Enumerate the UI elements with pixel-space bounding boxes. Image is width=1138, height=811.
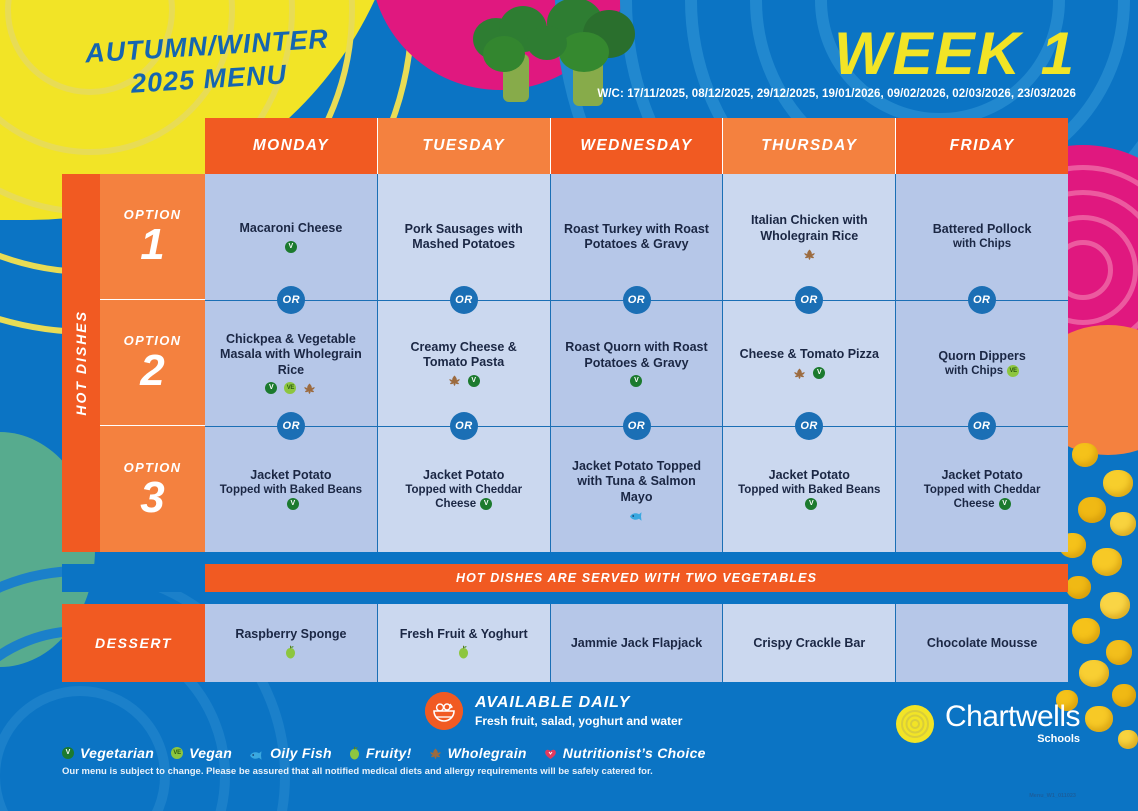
day-header-monday: MONDAY [205,118,377,174]
dish-cell-thursday-option-2: Cheese & Tomato PizzaV [722,300,895,426]
dish-cell-thursday-option-3: Jacket PotatoTopped with Baked BeansV [722,426,895,552]
vegetables-banner-row: HOT DISHES ARE SERVED WITH TWO VEGETABLE… [62,564,1068,592]
chartwells-logo: Chartwells Schools [896,702,1080,745]
available-daily-block: AVAILABLE DAILY Fresh fruit, salad, yogh… [425,692,682,730]
dish-cell-wednesday-option-2: Roast Quorn with Roast Potatoes & GravyV [550,300,723,426]
dish-cell-wednesday-option-1: Roast Turkey with Roast Potatoes & Gravy [550,174,723,300]
dietary-icons: V [285,241,297,253]
option-2-label: OPTION 2 [100,300,205,426]
dessert-name: Jammie Jack Flapjack [571,636,702,650]
legend-item-vegetarian: VVegetarian [62,745,154,761]
day-header-thursday: THURSDAY [722,118,895,174]
vegan-icon: VE [284,382,296,394]
dish-name: Jacket Potato [769,468,850,483]
hot-dishes-label-text: HOT DISHES [73,310,89,416]
vegetarian-icon: V [287,498,299,510]
or-badge: OR [623,412,651,440]
available-daily-title: AVAILABLE DAILY [475,694,682,712]
dish-name: Jacket Potato [423,468,504,483]
option-2-number: 2 [140,350,164,392]
option-1-label: OPTION 1 [100,174,205,300]
dish-row: Jacket PotatoTopped with Baked BeansVJac… [205,426,1068,552]
dish-name: Quorn Dippers [938,349,1026,364]
dietary-icons [458,645,469,659]
hot-dishes-section: HOT DISHES OPTION 1 OPTION 2 OPTION 3 Ma… [62,174,1068,552]
dish-row: Macaroni CheeseVPork Sausages with Mashe… [205,174,1068,300]
option-3-label: OPTION 3 [100,426,205,552]
dish-name: Jacket Potato [250,468,331,483]
chartwells-wordmark: Chartwells [945,702,1080,732]
salad-bowl-icon [425,692,463,730]
dish-name: Pork Sausages with Mashed Potatoes [388,222,540,253]
or-badge: OR [623,286,651,314]
week-commencing-dates: W/C: 17/11/2025, 08/12/2025, 29/12/2025,… [597,88,1076,100]
vegan-icon: VE [171,747,183,759]
dessert-cell-thursday: Crispy Crackle Bar [722,604,895,682]
week-label: WEEK 1 [834,24,1076,84]
dish-cell-wednesday-option-3: Jacket Potato Topped with Tuna & Salmon … [550,426,723,552]
disclaimer-text: Our menu is subject to change. Please be… [62,766,653,777]
dietary-legend: VVegetarianVEVeganOily FishFruity!Wholeg… [62,745,706,761]
dessert-name: Fresh Fruit & Yoghurt [400,627,528,641]
dietary-icons: VE [1007,365,1019,377]
dessert-cell-tuesday: Fresh Fruit & Yoghurt [377,604,550,682]
dish-name: Roast Quorn with Roast Potatoes & Gravy [561,340,713,371]
nutritionists-choice-icon [544,747,557,759]
vegetarian-icon: V [630,375,642,387]
legend-item-wholegrain: Wholegrain [429,745,527,761]
dish-cell-thursday-option-1: Italian Chicken with Wholegrain Rice [722,174,895,300]
dietary-icons: V [805,498,817,510]
legend-item-fruity: Fruity! [349,745,412,761]
or-badge: OR [795,412,823,440]
fruity-icon [349,746,360,760]
legend-item-vegan: VEVegan [171,745,232,761]
dish-cell-friday-option-2: Quorn Dipperswith ChipsVE [895,300,1068,426]
legend-label: Vegan [189,745,232,761]
dish-name: Cheese & Tomato Pizza [740,347,879,362]
dish-name: Italian Chicken with Wholegrain Rice [733,213,885,244]
dish-name: Creamy Cheese & Tomato Pasta [388,340,540,371]
or-badge: OR [450,286,478,314]
dish-subtitle: Topped with Cheddar CheeseV [906,483,1058,512]
or-badge: OR [277,412,305,440]
dish-cell-monday-option-1: Macaroni CheeseV [205,174,377,300]
legend-label: Oily Fish [270,745,332,761]
option-labels-column: OPTION 1 OPTION 2 OPTION 3 [100,174,205,552]
menu-grid: MONDAY TUESDAY WEDNESDAY THURSDAY FRIDAY… [62,118,1068,682]
dish-subtitle: with ChipsVE [945,364,1019,378]
dietary-icons [803,248,816,261]
chartwells-spiral-icon [896,705,934,743]
wholegrain-icon [448,374,461,387]
dish-cell-tuesday-option-1: Pork Sausages with Mashed Potatoes [377,174,550,300]
legend-item-oilyfish: Oily Fish [249,745,332,761]
dish-subtitle: Topped with Baked BeansV [733,483,885,512]
dietary-icons: V [630,375,642,387]
wholegrain-icon [429,747,442,760]
dietary-icons [285,645,296,659]
dish-cell-monday-option-3: Jacket PotatoTopped with Baked BeansV [205,426,377,552]
dessert-cell-friday: Chocolate Mousse [895,604,1068,682]
dish-subtitle: Topped with Baked BeansV [215,483,367,512]
dessert-name: Crispy Crackle Bar [753,636,865,650]
or-badge: OR [968,286,996,314]
legend-label: Nutritionist’s Choice [563,745,706,761]
vegan-icon: VE [1007,365,1019,377]
available-daily-subtitle: Fresh fruit, salad, yoghurt and water [475,714,682,728]
dessert-cell-wednesday: Jammie Jack Flapjack [550,604,723,682]
dish-subtitle: Topped with Cheddar CheeseV [388,483,540,512]
dish-name: Roast Turkey with Roast Potatoes & Gravy [561,222,713,253]
dish-cell-friday-option-3: Jacket PotatoTopped with Cheddar CheeseV [895,426,1068,552]
fruity-icon [458,645,469,659]
day-header-row: MONDAY TUESDAY WEDNESDAY THURSDAY FRIDAY [205,118,1068,174]
dietary-icons: V [287,498,299,510]
dessert-name: Raspberry Sponge [235,627,346,641]
vegetarian-icon: V [480,498,492,510]
menu-code: Menu_W1_011023 [1029,793,1076,799]
hot-dishes-label: HOT DISHES [62,174,100,552]
vegetarian-icon: V [468,375,480,387]
vegetarian-icon: V [999,498,1011,510]
vegetarian-icon: V [805,498,817,510]
wholegrain-icon [793,367,806,380]
dietary-icons [629,509,644,520]
legend-item-nutritionist: Nutritionist’s Choice [544,745,706,761]
dish-cell-tuesday-option-2: Creamy Cheese & Tomato PastaV [377,300,550,426]
wholegrain-icon [303,382,316,395]
option-1-number: 1 [140,224,164,266]
fruity-icon [285,645,296,659]
dish-cell-friday-option-1: Battered Pollockwith Chips [895,174,1068,300]
option-3-number: 3 [140,477,164,519]
dish-name: Battered Pollock [933,222,1032,237]
legend-label: Wholegrain [448,745,527,761]
oily-fish-icon [249,748,264,759]
dish-cells-grid: Macaroni CheeseVPork Sausages with Mashe… [205,174,1068,552]
dessert-section: DESSERT Raspberry SpongeFresh Fruit & Yo… [62,604,1068,682]
vegetarian-icon: V [285,241,297,253]
dietary-icons: V [448,374,480,387]
oily-fish-icon [629,509,644,520]
dish-name: Chickpea & Vegetable Masala with Wholegr… [215,332,367,378]
vegetarian-icon: V [813,367,825,379]
vegetarian-icon: V [265,382,277,394]
dish-name: Jacket Potato Topped with Tuna & Salmon … [561,459,713,505]
dessert-cells-grid: Raspberry SpongeFresh Fruit & YoghurtJam… [205,604,1068,682]
or-badge: OR [795,286,823,314]
legend-label: Vegetarian [80,745,154,761]
dish-name: Jacket Potato [941,468,1022,483]
dietary-icons: VVE [265,382,316,395]
dish-row: Chickpea & Vegetable Masala with Wholegr… [205,300,1068,426]
day-header-friday: FRIDAY [895,118,1068,174]
legend-label: Fruity! [366,745,412,761]
chartwells-schools-label: Schools [945,733,1080,745]
dish-cell-tuesday-option-3: Jacket PotatoTopped with Cheddar CheeseV [377,426,550,552]
vegetarian-icon: V [62,747,74,759]
dietary-icons: V [480,498,492,510]
or-badge: OR [968,412,996,440]
dish-subtitle: with Chips [953,237,1011,251]
or-badge: OR [277,286,305,314]
day-header-wednesday: WEDNESDAY [550,118,723,174]
dessert-name: Chocolate Mousse [927,636,1037,650]
vegetables-banner: HOT DISHES ARE SERVED WITH TWO VEGETABLE… [205,564,1068,592]
day-header-tuesday: TUESDAY [377,118,550,174]
dish-cell-monday-option-2: Chickpea & Vegetable Masala with Wholegr… [205,300,377,426]
dietary-icons: V [793,367,825,380]
dietary-icons: V [999,498,1011,510]
wholegrain-icon [803,248,816,261]
dessert-cell-monday: Raspberry Sponge [205,604,377,682]
dessert-label: DESSERT [62,604,205,682]
or-badge: OR [450,412,478,440]
dish-name: Macaroni Cheese [239,221,342,236]
